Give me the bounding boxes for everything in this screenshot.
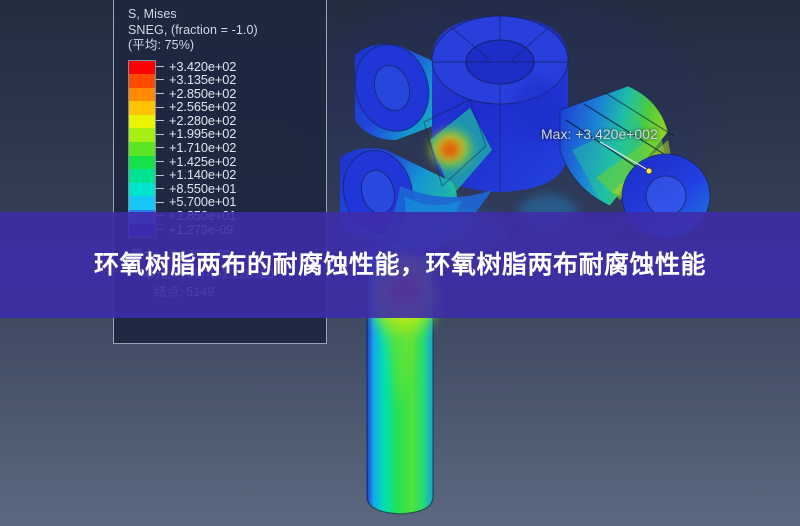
caption-title: 环氧树脂两布的耐腐蚀性能，环氧树脂两布耐腐蚀性能 (50, 245, 750, 285)
legend-swatch-10 (129, 196, 155, 210)
legend-value-9: +8.550e+01 (169, 182, 236, 196)
legend-tick-9 (156, 182, 165, 196)
abaqus-viewport-screenshot: Max: +3.420e+002 S, Mises SNEG, (fractio… (0, 0, 800, 526)
legend-tick-6 (156, 141, 165, 155)
legend-tick-4 (156, 114, 165, 128)
legend-value-5: +1.995e+02 (169, 127, 236, 141)
legend-value-1: +3.135e+02 (169, 73, 236, 87)
legend-value-3: +2.565e+02 (169, 100, 236, 114)
legend-value-column: +3.420e+02+3.135e+02+2.850e+02+2.565e+02… (169, 60, 236, 237)
caption-overlay-bar: 环氧树脂两布的耐腐蚀性能，环氧树脂两布耐腐蚀性能 (0, 212, 800, 318)
legend-value-6: +1.710e+02 (169, 141, 236, 155)
legend-tick-8 (156, 168, 165, 182)
legend-average: (平均: 75%) (128, 38, 326, 54)
legend-value-4: +2.280e+02 (169, 114, 236, 128)
legend-swatch-5 (129, 128, 155, 142)
legend-tick-10 (156, 195, 165, 209)
legend-swatch-1 (129, 74, 155, 88)
legend-tick-7 (156, 155, 165, 169)
legend-swatch-0 (129, 61, 155, 75)
legend-swatch-2 (129, 88, 155, 102)
legend-swatch-7 (129, 156, 155, 170)
legend-tick-3 (156, 100, 165, 114)
legend-subtitle: SNEG, (fraction = -1.0) (128, 23, 326, 39)
legend-value-0: +3.420e+02 (169, 60, 236, 74)
legend-value-8: +1.140e+02 (169, 168, 236, 182)
legend-value-7: +1.425e+02 (169, 155, 236, 169)
legend-tick-1 (156, 73, 165, 87)
legend-swatch-3 (129, 101, 155, 115)
legend-swatch-8 (129, 169, 155, 183)
legend-value-2: +2.850e+02 (169, 87, 236, 101)
legend-swatch-4 (129, 115, 155, 129)
legend-tick-column (156, 60, 165, 237)
legend-value-10: +5.700e+01 (169, 195, 236, 209)
max-value-annotation: Max: +3.420e+002 (541, 126, 658, 142)
legend-tick-2 (156, 87, 165, 101)
legend-title: S, Mises (128, 7, 326, 23)
legend-swatch-6 (129, 142, 155, 156)
legend-swatch-9 (129, 183, 155, 197)
legend-tick-0 (156, 60, 165, 74)
legend-tick-5 (156, 127, 165, 141)
